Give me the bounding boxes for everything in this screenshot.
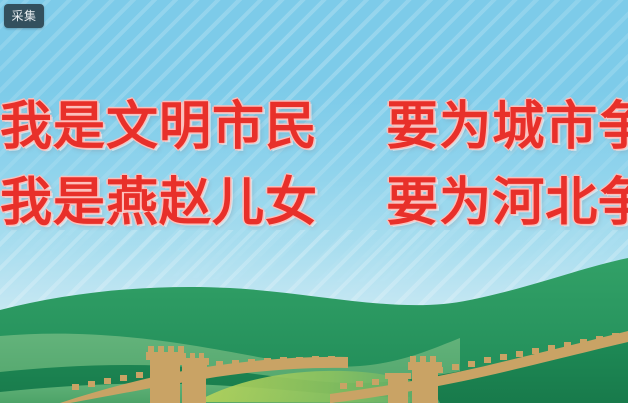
great-wall-right-tower xyxy=(408,356,442,403)
headline-line-1-right: 要为城市争光 xyxy=(386,101,628,153)
headline-line-1: 我是文明市民 要为城市争光 xyxy=(0,101,628,153)
great-wall-left-tower xyxy=(146,346,184,403)
headline-line-2: 我是燕赵儿女 要为河北争气 xyxy=(0,177,628,229)
headline-line-1-left: 我是文明市民 xyxy=(0,101,318,153)
headline-line-2-left: 我是燕赵儿女 xyxy=(0,177,318,229)
headline-line-2-right: 要为河北争气 xyxy=(386,177,628,229)
great-wall-right-tower2 xyxy=(385,373,411,403)
capture-button[interactable]: 采集 xyxy=(4,4,44,28)
great-wall-left-tower2 xyxy=(179,353,209,403)
banner-image: 我是文明市民 要为城市争光 我是燕赵儿女 要为河北争气 采集 xyxy=(0,0,628,403)
